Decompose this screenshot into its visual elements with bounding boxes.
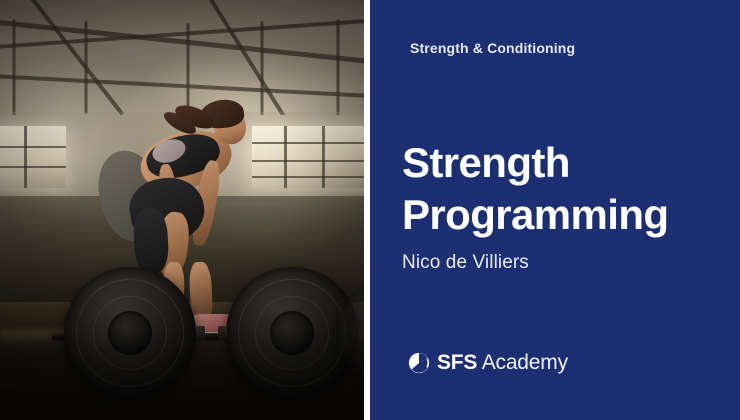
author-name: Nico de Villiers	[402, 252, 529, 274]
photo-vignette	[0, 0, 364, 420]
hero-photo	[0, 0, 364, 420]
brand-name: SFS Academy	[437, 351, 568, 375]
brand-lockup: SFS Academy	[408, 351, 568, 375]
info-panel: Strength & Conditioning Strength Program…	[370, 0, 740, 420]
category-eyebrow: Strength & Conditioning	[410, 40, 575, 56]
sfs-logo-icon	[408, 352, 430, 374]
title-slide: Strength & Conditioning Strength Program…	[0, 0, 740, 420]
page-title: Strength Programming	[402, 137, 722, 241]
course-title-line-2: Programming	[402, 189, 722, 241]
photo-stage	[0, 0, 364, 420]
course-title-line-1: Strength	[402, 137, 722, 189]
brand-name-light: Academy	[477, 351, 568, 374]
brand-name-bold: SFS	[437, 351, 477, 374]
